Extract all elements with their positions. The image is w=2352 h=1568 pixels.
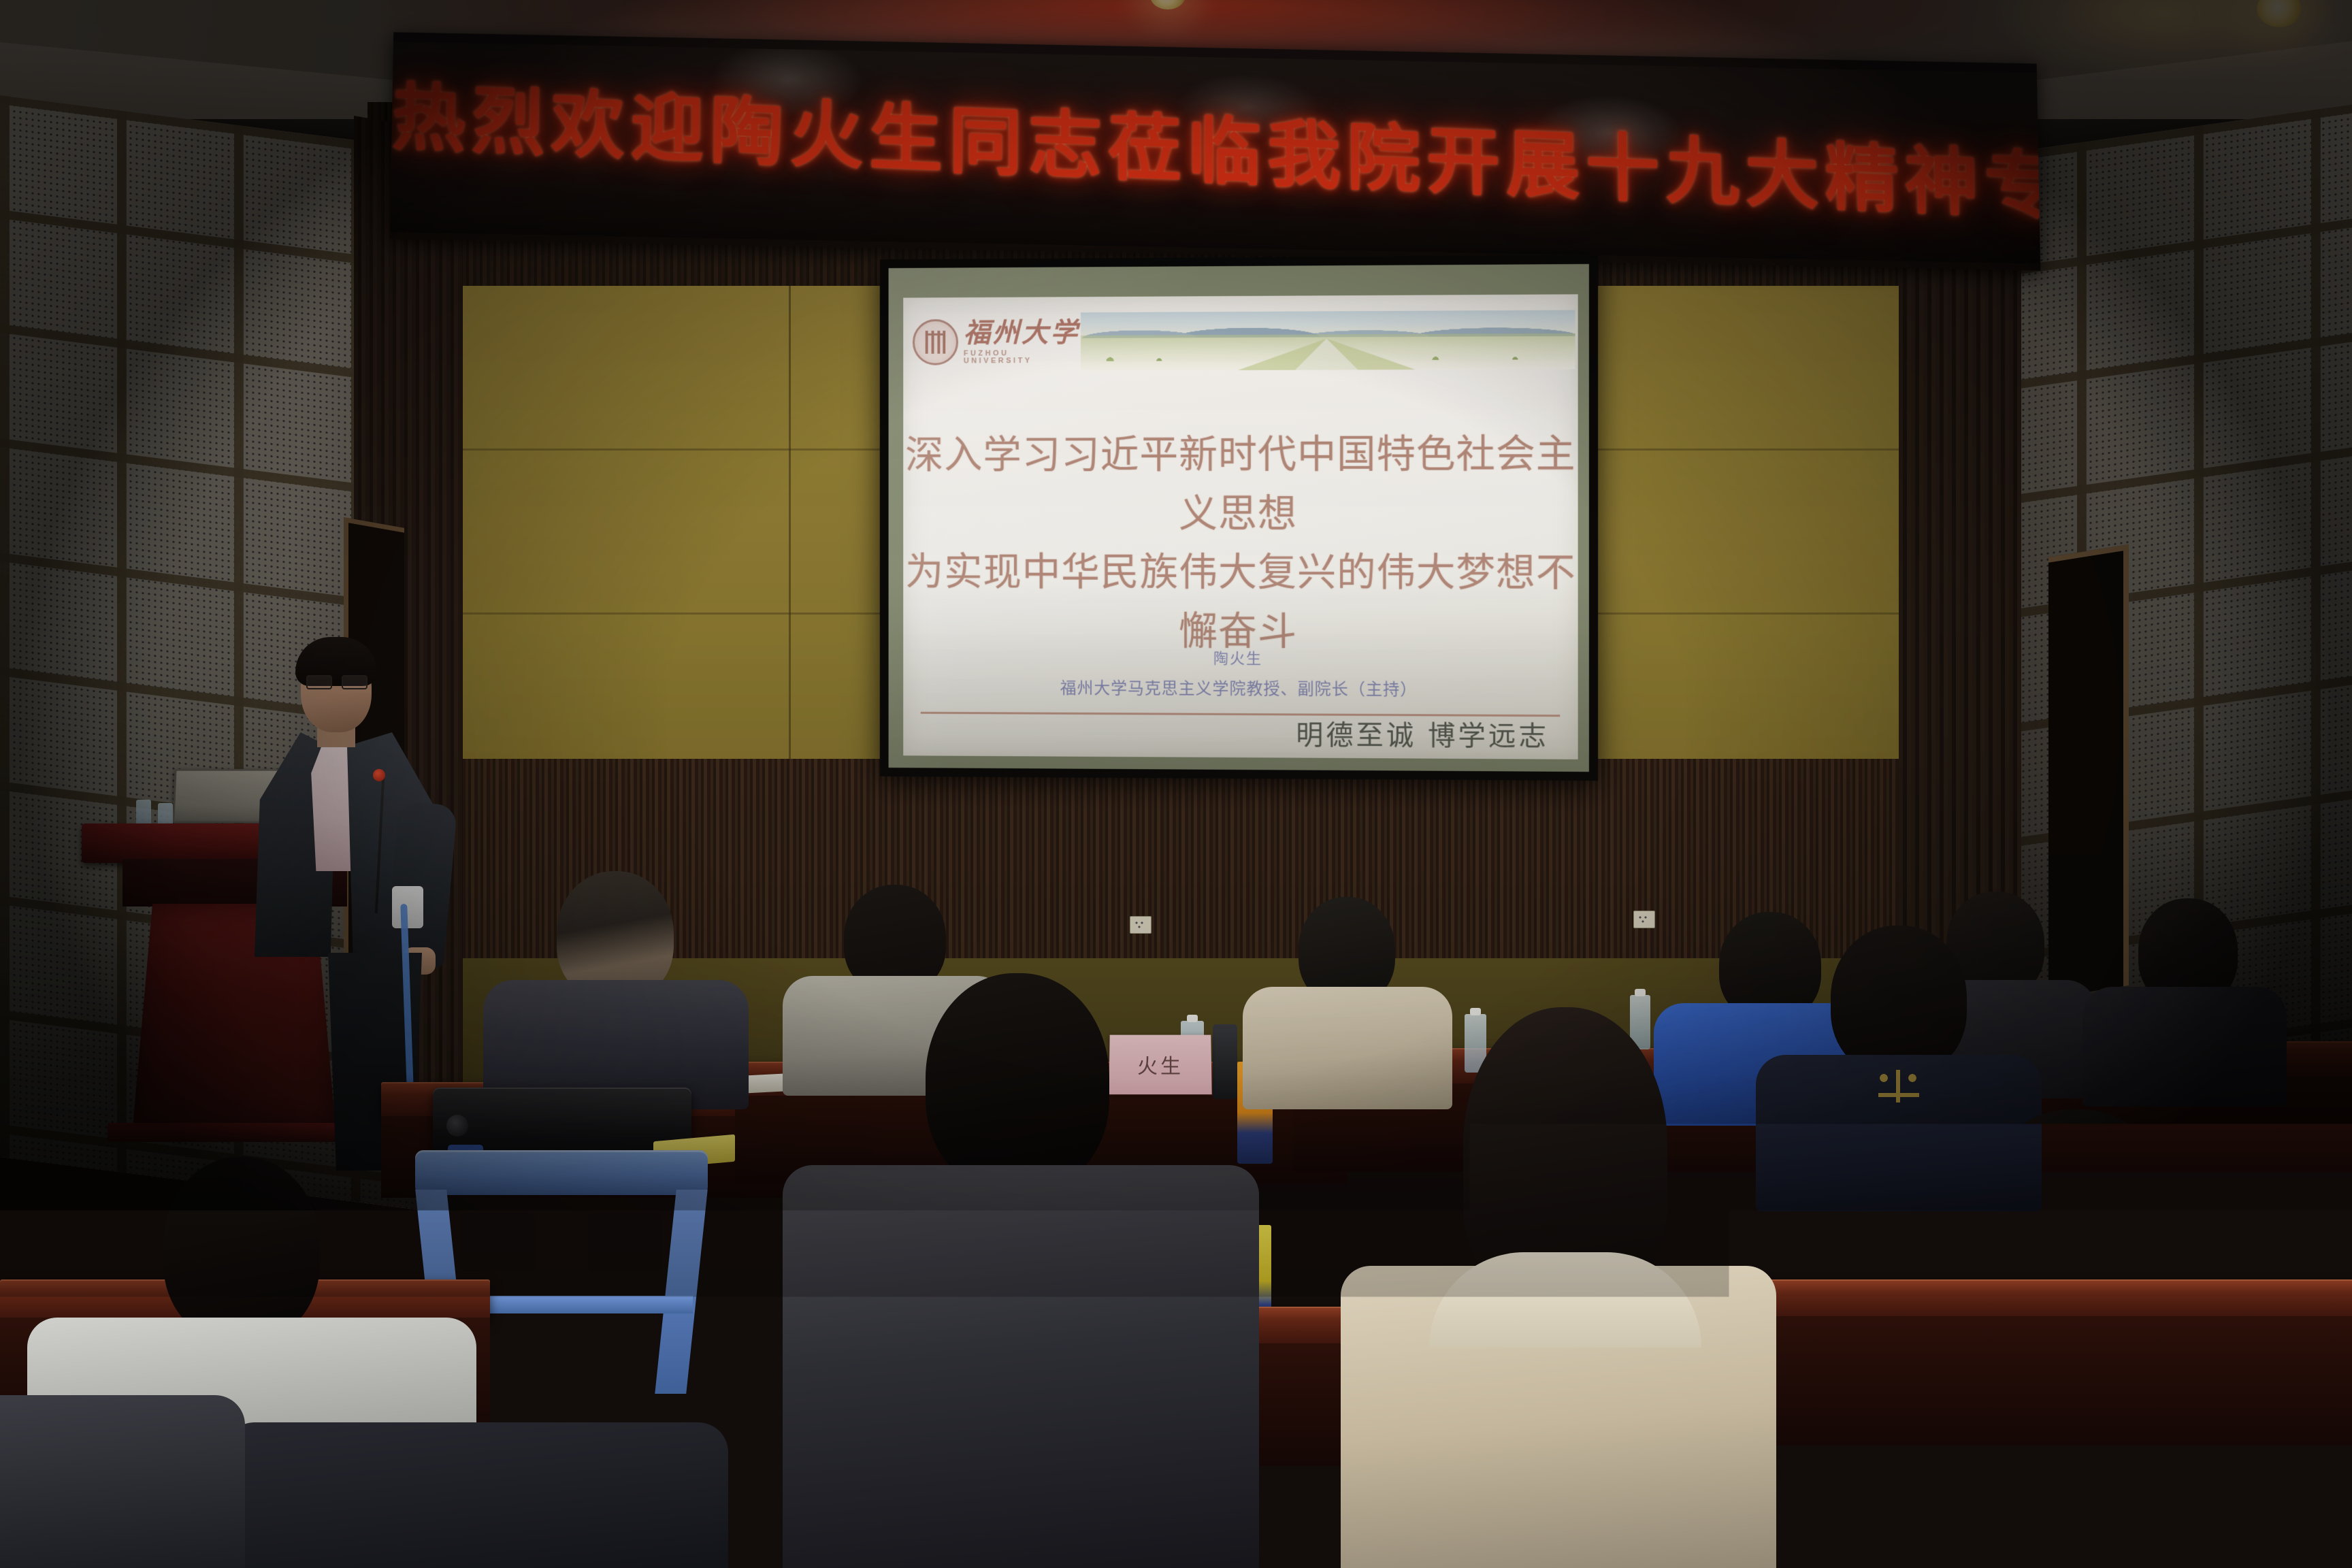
projector-lens-icon <box>446 1115 468 1137</box>
head <box>163 1157 320 1341</box>
head <box>1831 926 1967 1075</box>
audience-member-bald-grey-sweater <box>476 871 749 1096</box>
slide-speaker-role: 福州大学马克思主义学院教授、副院长（主持） <box>903 674 1578 700</box>
lecture-hall-photo: 热烈欢迎陶火生同志莅临我院开展十九大精神专题宣讲会 福州大学 FUZHOU UN… <box>0 0 2352 1568</box>
speaker-glasses-icon <box>306 675 367 687</box>
fuzhou-university-logo: 福州大学 FUZHOU UNIVERSITY <box>913 306 1081 377</box>
torso <box>783 1165 1259 1568</box>
presentation-slide: 福州大学 FUZHOU UNIVERSITY 深入学习习近平新时代中国特色社会主… <box>903 294 1578 759</box>
microphone-icon <box>373 769 385 781</box>
audience-member-black-puffer <box>776 973 1266 1568</box>
audience-member-dark-coat-left <box>225 1422 728 1568</box>
torso <box>225 1422 728 1568</box>
audience-member-beige-shearling <box>1347 1007 1769 1568</box>
projection-screen: 福州大学 FUZHOU UNIVERSITY 深入学习习近平新时代中国特色社会主… <box>880 255 1598 781</box>
stool-cutout <box>460 1213 535 1271</box>
torso-striped <box>1817 1313 2352 1568</box>
slide-title-line-2: 为实现中华民族伟大复兴的伟大梦想不懈奋斗 <box>903 543 1578 662</box>
slide-motto: 明德至诚 博学远志 <box>1296 713 1549 753</box>
power-outlet <box>1633 911 1655 928</box>
university-name-block: 福州大学 FUZHOU UNIVERSITY <box>964 319 1081 365</box>
university-seal-icon <box>913 319 958 365</box>
led-banner: 热烈欢迎陶火生同志莅临我院开展十九大精神专题宣讲会 <box>390 32 2041 270</box>
head <box>926 973 1109 1191</box>
led-banner-text: 热烈欢迎陶火生同志莅临我院开展十九大精神专题宣讲会 <box>391 59 2040 233</box>
landscape-trees <box>1081 348 1575 361</box>
head <box>1974 1109 2178 1341</box>
university-name-en: FUZHOU UNIVERSITY <box>964 349 1081 365</box>
slide-header-landscape-image <box>1081 310 1575 371</box>
audience-member-striped-sweater <box>1837 1109 2352 1568</box>
slide-title-line-1: 深入学习习近平新时代中国特色社会主义思想 <box>903 425 1578 544</box>
slide-speaker-name: 陶火生 <box>903 646 1578 670</box>
head-long-hair <box>1463 1007 1667 1293</box>
trident-logo-icon <box>1878 1070 1919 1102</box>
slide-header: 福州大学 FUZHOU UNIVERSITY <box>903 299 1578 381</box>
stool-cutout <box>588 1213 663 1271</box>
audience-member-far-left-foreground <box>0 1395 231 1568</box>
power-outlet <box>1130 916 1151 934</box>
university-name-cn: 福州大学 <box>964 319 1081 347</box>
slide-title: 深入学习习近平新时代中国特色社会主义思想 为实现中华民族伟大复兴的伟大梦想不懈奋… <box>903 425 1578 662</box>
torso <box>0 1395 245 1568</box>
slide-byline: 陶火生 福州大学马克思主义学院教授、副院长（主持） <box>903 646 1578 701</box>
audience-member-back-far-right <box>2082 898 2287 1096</box>
torso <box>2082 987 2287 1107</box>
